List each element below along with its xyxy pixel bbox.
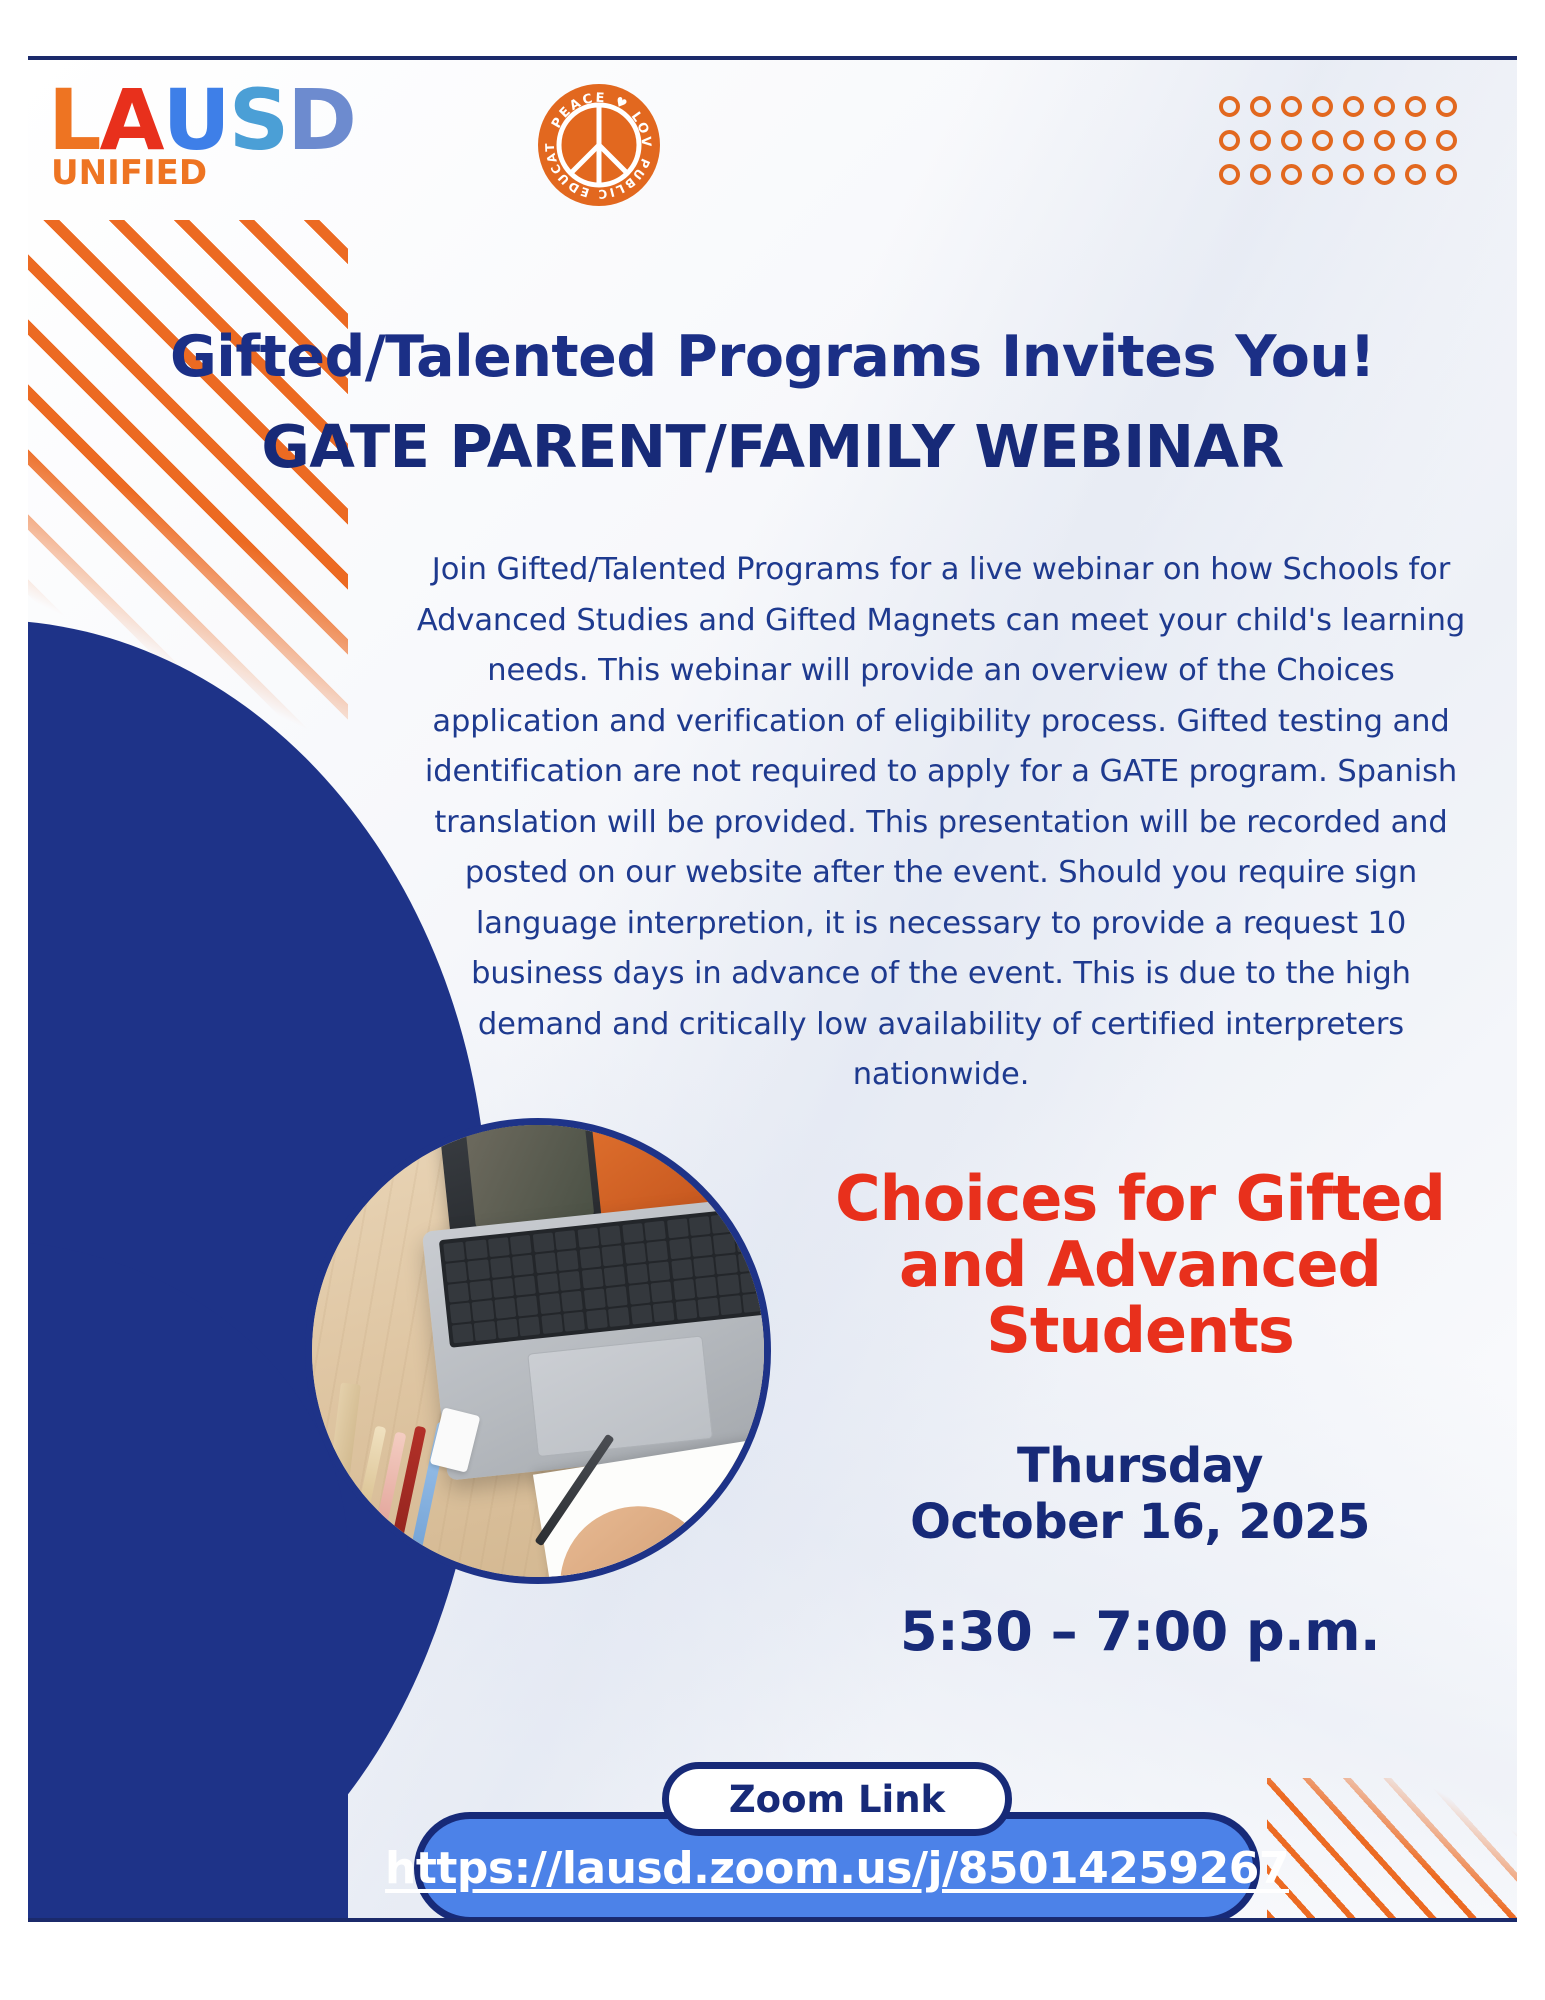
dot: [1436, 164, 1457, 185]
dot: [1219, 96, 1240, 117]
event-title: Choices for Gifted and Advanced Students: [800, 1166, 1480, 1364]
event-date-text: October 16, 2025: [800, 1494, 1480, 1550]
logo-letter-s: S: [229, 82, 288, 159]
lausd-wordmark: LAUSD: [48, 82, 568, 159]
event-time: 5:30 – 7:00 p.m.: [800, 1600, 1480, 1663]
dot: [1436, 96, 1457, 117]
laptop-desk-photo: [305, 1118, 771, 1584]
flyer-poster: LAUSD UNIFIED PEACE ♥ LOVE: [0, 0, 1545, 2000]
dot: [1281, 164, 1302, 185]
logo-letter-l: L: [48, 82, 100, 159]
dot: [1436, 130, 1457, 151]
logo-letter-a: A: [100, 82, 163, 159]
zoom-link-url[interactable]: https://lausd.zoom.us/j/85014259267: [385, 1843, 1289, 1894]
flyer-sheet: LAUSD UNIFIED PEACE ♥ LOVE: [28, 56, 1517, 1922]
dot: [1312, 130, 1333, 151]
lausd-logo: LAUSD UNIFIED: [48, 82, 568, 210]
dot: [1219, 164, 1240, 185]
event-date: Thursday October 16, 2025: [800, 1438, 1480, 1550]
logo-letter-d: D: [287, 82, 355, 159]
dot: [1281, 96, 1302, 117]
dot: [1312, 96, 1333, 117]
dot: [1250, 96, 1271, 117]
dot: [1343, 130, 1364, 151]
peace-love-public-education-seal: PEACE ♥ LOVE PUBLIC EDUCATION: [536, 82, 662, 208]
dot: [1405, 96, 1426, 117]
laptop-trackpad: [527, 1335, 713, 1457]
dot: [1250, 164, 1271, 185]
decorative-dot-grid: [1219, 96, 1467, 198]
dot: [1405, 130, 1426, 151]
dot: [1250, 130, 1271, 151]
zoom-link-label: Zoom Link: [662, 1762, 1012, 1836]
page-title: Gifted/Talented Programs Invites You!: [28, 324, 1517, 390]
dot: [1405, 164, 1426, 185]
notebook-spiral: [758, 1442, 771, 1584]
page-subtitle: GATE PARENT/FAMILY WEBINAR: [28, 412, 1517, 481]
flyer-header: LAUSD UNIFIED PEACE ♥ LOVE: [28, 60, 1517, 210]
dot: [1219, 130, 1240, 151]
event-day: Thursday: [800, 1438, 1480, 1494]
dot: [1343, 96, 1364, 117]
dot: [1343, 164, 1364, 185]
dot: [1374, 164, 1395, 185]
laptop-keyboard: [439, 1207, 769, 1348]
dot: [1374, 130, 1395, 151]
description-paragraph: Join Gifted/Talented Programs for a live…: [410, 545, 1472, 1101]
photo-content: [312, 1125, 764, 1577]
diagonal-stripes-bottom-right: [1267, 1778, 1517, 1918]
dot: [1281, 130, 1302, 151]
dot: [1374, 96, 1395, 117]
dot: [1312, 164, 1333, 185]
logo-letter-u: U: [163, 82, 229, 159]
